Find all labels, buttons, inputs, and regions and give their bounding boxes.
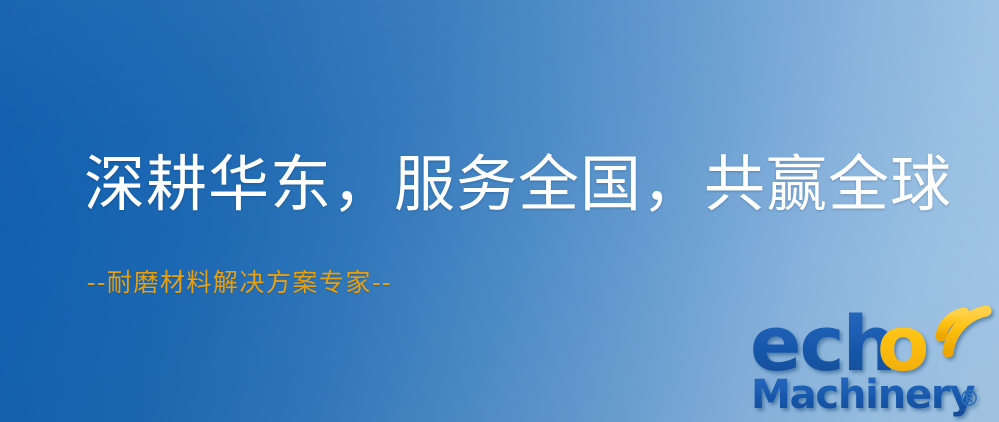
headline-text: 深耕华东，服务全国，共赢全球	[84, 152, 952, 218]
logo-registered-mark: ®	[958, 387, 980, 412]
promo-banner: 深耕华东，服务全国，共赢全球 --耐磨材料解决方案专家--	[0, 0, 999, 422]
subtitle-tagline: --耐磨材料解决方案专家--	[87, 268, 392, 298]
wifi-arc-icon	[941, 311, 986, 352]
logo-machinery-text: Machinery	[751, 372, 975, 418]
logo-artwork: ech o Machinery ®	[748, 296, 999, 422]
echo-machinery-logo[interactable]: ech o Machinery ®	[748, 296, 999, 422]
